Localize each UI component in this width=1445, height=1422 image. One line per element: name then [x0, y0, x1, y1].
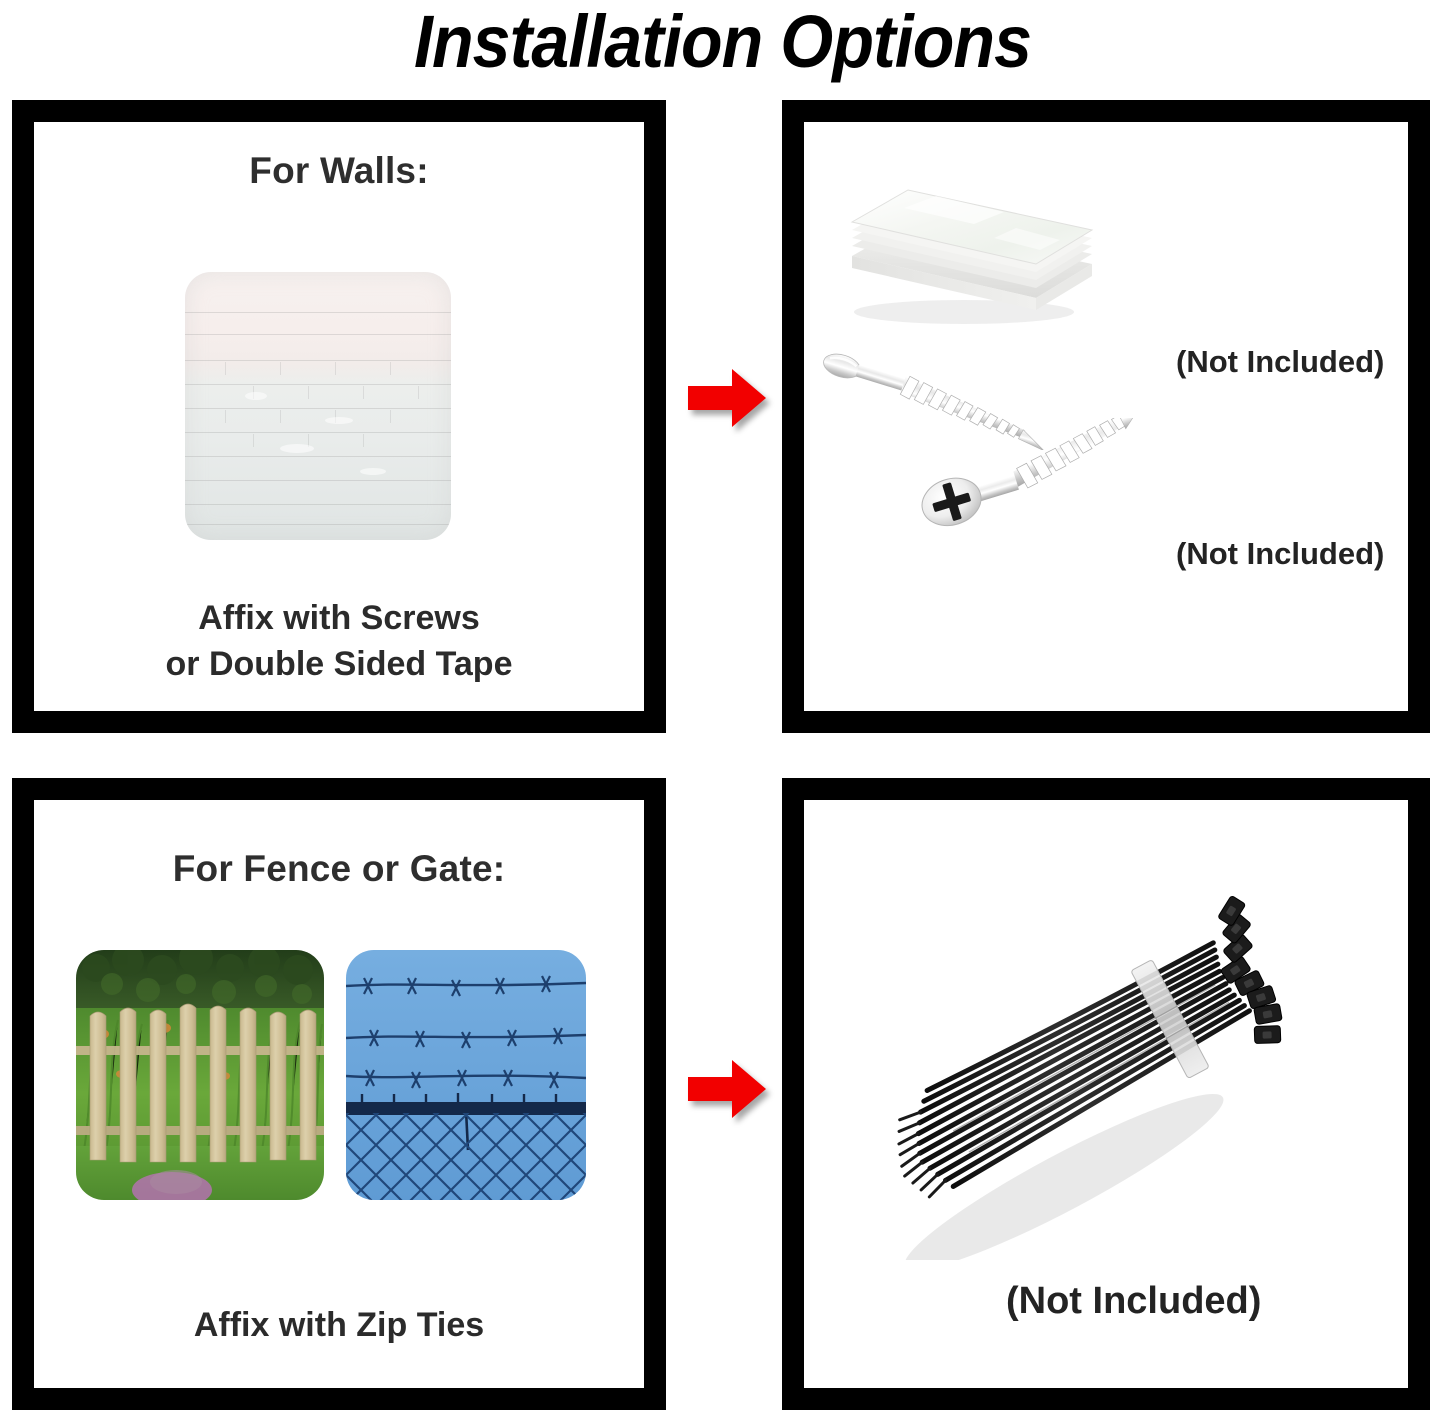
zipties-not-included-label: (Not Included) [1006, 1280, 1261, 1323]
panel-zip-ties-inner: (Not Included) [804, 800, 1408, 1388]
panel-hardware-inner: (Not Included) [804, 122, 1408, 711]
walls-heading: For Walls: [34, 150, 644, 192]
red-right-arrow-icon-bottom [688, 1060, 766, 1118]
picket-fence-photo-tile [76, 950, 324, 1200]
walls-caption-line-1: Affix with Screws [34, 595, 644, 641]
panel-for-fence-inner: For Fence or Gate: [34, 800, 644, 1388]
walls-caption: Affix with Screws or Double Sided Tape [34, 595, 644, 687]
wall-texture-swatch [185, 272, 451, 540]
chain-link-fence-photo-tile [346, 950, 586, 1200]
screws-not-included-label: (Not Included) [1176, 536, 1384, 572]
panel-hardware: (Not Included) [782, 100, 1430, 733]
wood-screw-icon-lower [904, 418, 1174, 538]
page-title: Installation Options [58, 2, 1387, 82]
red-right-arrow-icon [688, 369, 766, 427]
fence-caption: Affix with Zip Ties [34, 1302, 644, 1348]
panel-for-walls: For Walls: [12, 100, 666, 733]
fence-heading: For Fence or Gate: [34, 848, 644, 890]
double-sided-tape-stack-icon [844, 146, 1096, 328]
tape-not-included-label: (Not Included) [1176, 344, 1384, 380]
zip-tie-bundle-icon [814, 860, 1394, 1260]
panel-for-walls-inner: For Walls: [34, 122, 644, 711]
walls-caption-line-2: or Double Sided Tape [34, 641, 644, 687]
panel-zip-ties: (Not Included) [782, 778, 1430, 1410]
panel-for-fence-or-gate: For Fence or Gate: [12, 778, 666, 1410]
